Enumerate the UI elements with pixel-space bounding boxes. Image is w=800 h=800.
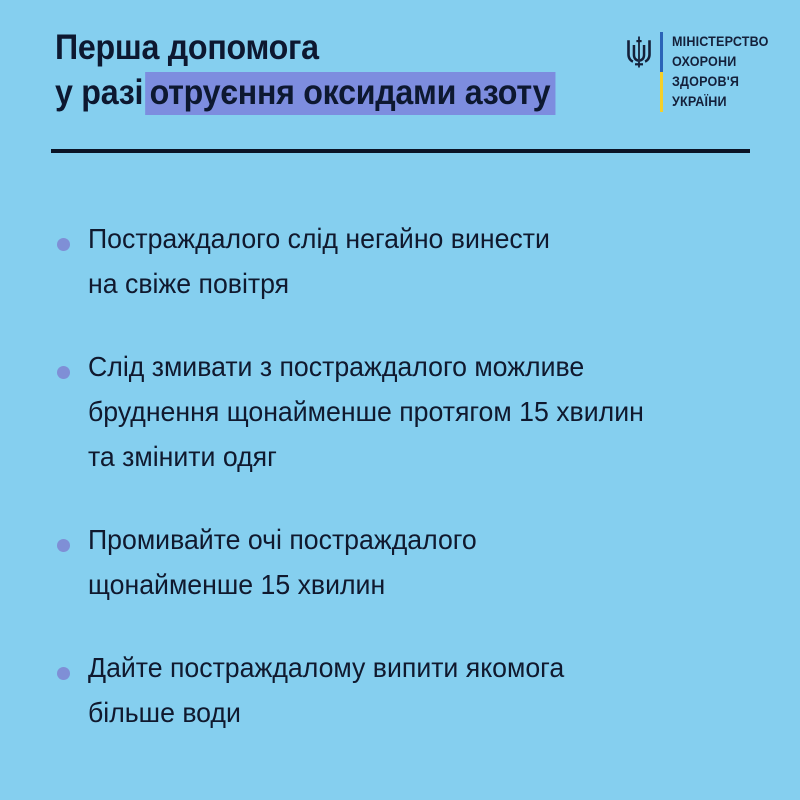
- logo-line-4: УКРАЇНИ: [672, 92, 769, 112]
- list-item-text: Дайте постраждалому випити якомога більш…: [88, 645, 779, 735]
- bullet-dot-icon: [57, 539, 70, 552]
- logo-text-block: МІНІСТЕРСТВО ОХОРОНИ ЗДОРОВ'Я УКРАЇНИ: [672, 32, 776, 112]
- logo-divider: [660, 32, 663, 112]
- list-item: Промивайте очі постраждалого щонайменше …: [0, 517, 800, 607]
- list-item: Дайте постраждалому випити якомога більш…: [0, 645, 800, 735]
- bullet-dot-icon: [57, 366, 70, 379]
- page-title: Перша допомога у разіотруєння оксидами а…: [55, 26, 615, 115]
- logo-line-3: ЗДОРОВ'Я: [672, 72, 769, 92]
- infographic-poster: Перша допомога у разіотруєння оксидами а…: [0, 0, 800, 800]
- list-item: Слід змивати з постраждалого можливе бру…: [0, 344, 800, 479]
- poster-header: Перша допомога у разіотруєння оксидами а…: [0, 0, 800, 150]
- logo-line-1: МІНІСТЕРСТВО: [672, 32, 769, 52]
- list-item-text: Промивайте очі постраждалого щонайменше …: [88, 517, 779, 607]
- list-item-text: Постраждалого слід негайно винести на св…: [88, 216, 779, 306]
- list-item: Постраждалого слід негайно винести на св…: [0, 216, 800, 306]
- title-line-second: у разіотруєння оксидами азоту: [55, 71, 570, 115]
- title-line-first: Перша допомога: [55, 26, 570, 69]
- ministry-logo: МІНІСТЕРСТВО ОХОРОНИ ЗДОРОВ'Я УКРАЇНИ: [626, 32, 776, 118]
- advice-list: Постраждалого слід негайно винести на св…: [0, 216, 800, 773]
- title-highlighted-text: отруєння оксидами азоту: [145, 72, 556, 115]
- bullet-dot-icon: [57, 667, 70, 680]
- logo-line-2: ОХОРОНИ: [672, 52, 769, 72]
- bullet-dot-icon: [57, 238, 70, 251]
- trident-icon: [626, 36, 652, 68]
- header-divider-rule: [51, 149, 750, 153]
- title-prefix-text: у разі: [55, 73, 143, 112]
- list-item-text: Слід змивати з постраждалого можливе бру…: [88, 344, 779, 479]
